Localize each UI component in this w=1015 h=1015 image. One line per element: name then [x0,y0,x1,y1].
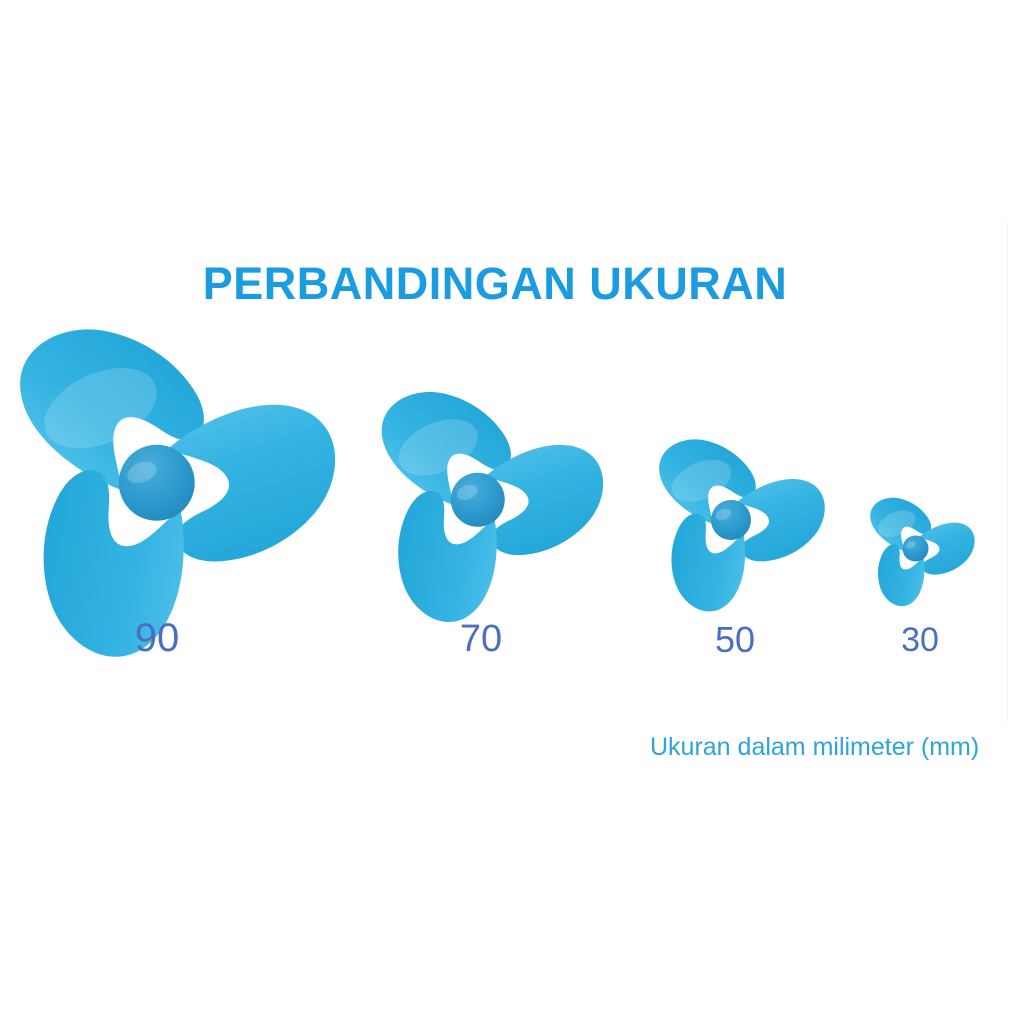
right-edge-line [1007,222,1008,722]
propeller-30-graphic [843,476,988,621]
propeller-70-graphic [324,346,632,654]
size-comparison-image: PERBANDINGAN UKURAN 90705030 Ukuran dala… [0,0,1015,1015]
propeller-hub [119,445,195,521]
size-label-30: 30 [860,623,980,657]
size-label-90: 90 [97,618,217,658]
propeller-70 [324,346,632,654]
propeller-hub [711,500,751,540]
propeller-30 [843,476,988,621]
size-label-70: 70 [421,620,541,658]
propeller-50 [616,405,846,635]
size-label-50: 50 [675,622,795,658]
units-caption: Ukuran dalam milimeter (mm) [650,733,979,762]
propeller-hub [902,535,928,561]
propeller-50-graphic [616,405,846,635]
propeller-hub [451,473,505,527]
